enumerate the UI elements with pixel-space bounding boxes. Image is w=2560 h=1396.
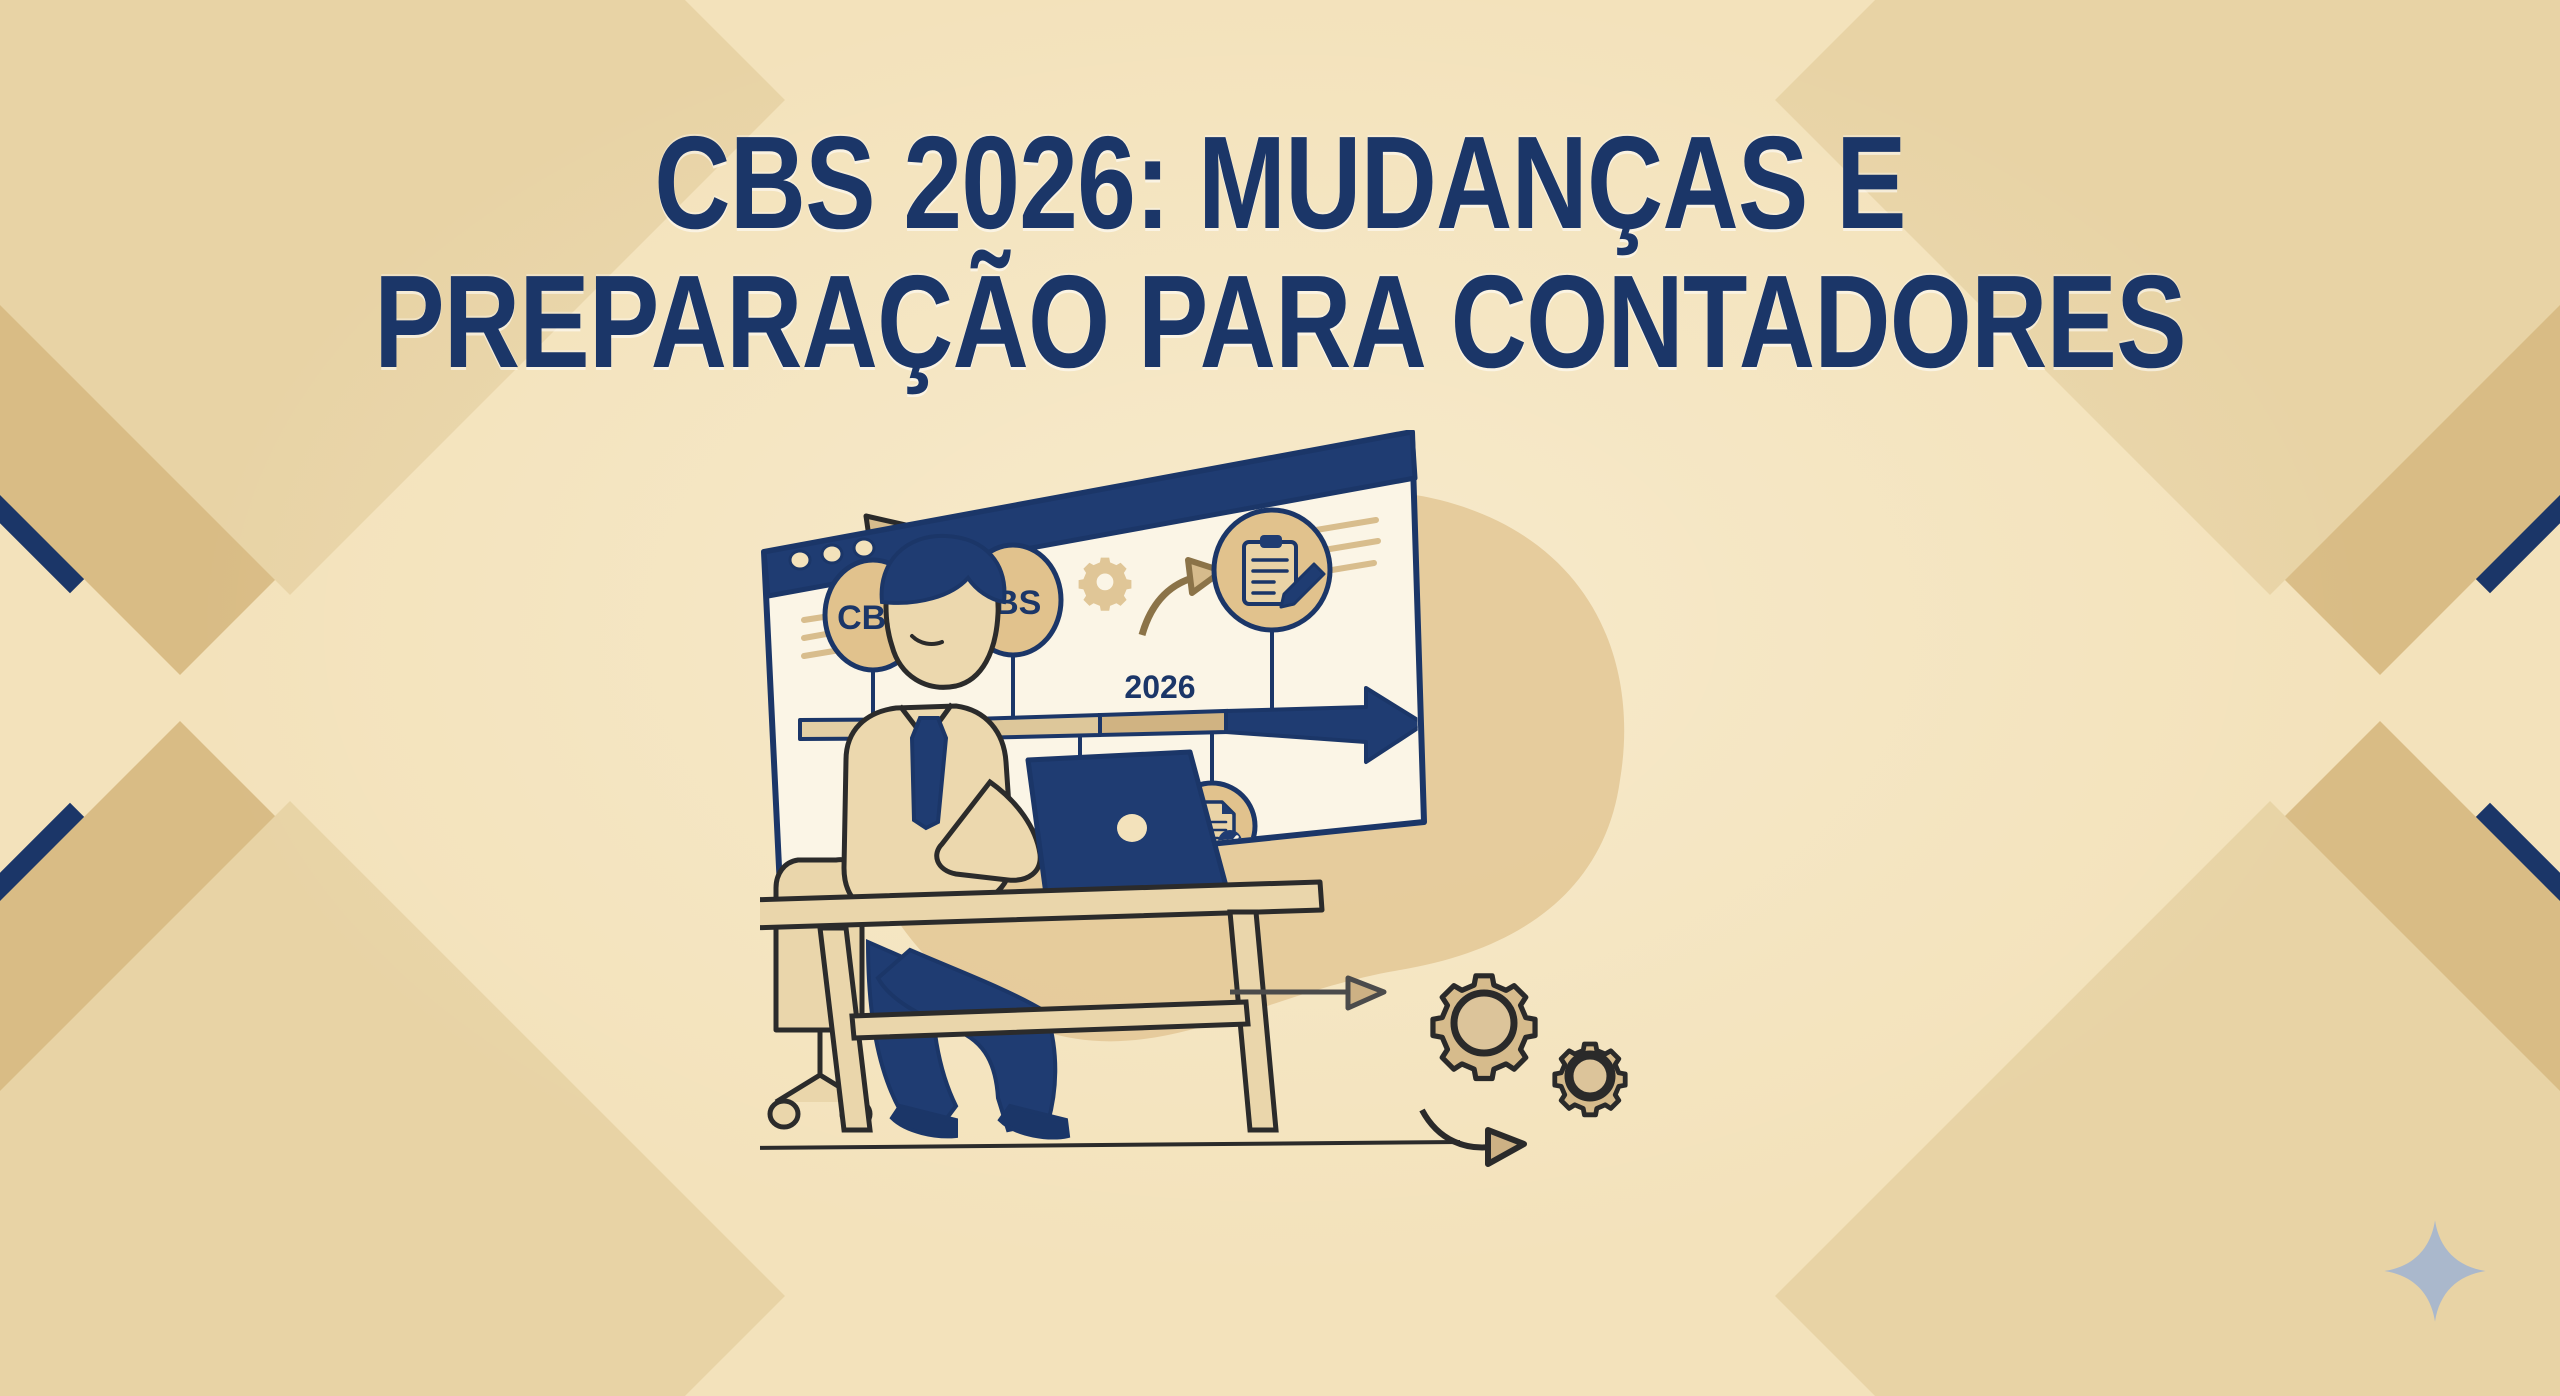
- page-title: CBS 2026: MUDANÇAS E PREPARAÇÃO PARA CON…: [0, 118, 2560, 387]
- timeline-segment-3: [1100, 711, 1226, 735]
- timeline-node-clipboard: [1214, 510, 1330, 630]
- window-dot-3: [854, 539, 874, 557]
- person-shoe-front: [1000, 1106, 1068, 1137]
- person-tie: [912, 718, 946, 828]
- curved-arrow-head-3-icon: [1488, 1130, 1524, 1164]
- timeline-year-2026: 2026: [1124, 669, 1195, 705]
- gears-bottom-right-group: [1230, 976, 1625, 1164]
- gear-icon-br-small: [1555, 1044, 1625, 1115]
- four-point-star-icon: [2384, 1220, 2485, 1321]
- floor-line: [760, 1142, 1460, 1148]
- title-line-2: PREPARAÇÃO PARA CONTADORES: [256, 257, 2304, 386]
- title-line-1: CBS 2026: MUDANÇAS E: [256, 118, 2304, 247]
- window-dot-2: [822, 545, 842, 563]
- laptop-logo: [1117, 814, 1147, 842]
- hero-illustration: CBS IBS: [760, 430, 1830, 1320]
- gear-icon-br-large: [1433, 976, 1535, 1079]
- window-dot-1: [790, 551, 810, 569]
- laptop-icon: [1028, 752, 1226, 894]
- banner-canvas: CBS 2026: MUDANÇAS E PREPARAÇÃO PARA CON…: [0, 0, 2560, 1396]
- sparkle-decoration: [2380, 1216, 2490, 1326]
- straight-arrow-head-icon: [1348, 978, 1384, 1008]
